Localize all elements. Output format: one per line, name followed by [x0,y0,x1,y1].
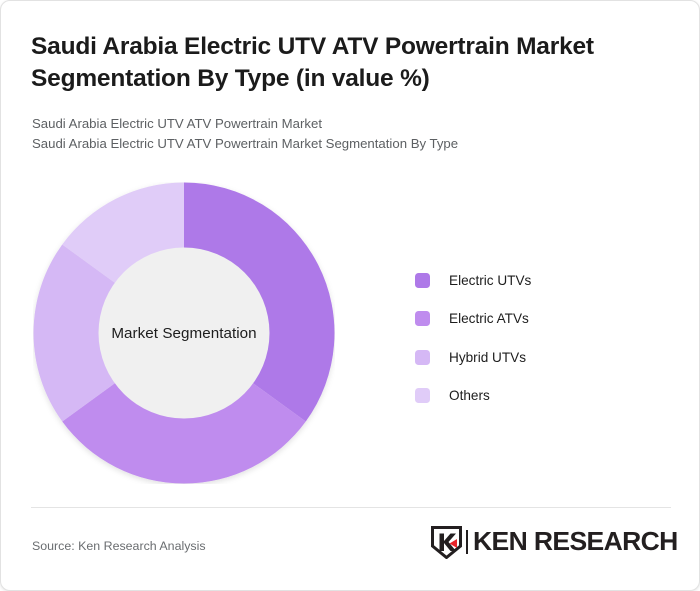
chart-legend: Electric UTVsElectric ATVsHybrid UTVsOth… [415,261,645,415]
legend-label: Electric ATVs [449,311,529,326]
subtitle-segmentation: Saudi Arabia Electric UTV ATV Powertrain… [32,134,642,154]
donut-center-hole [99,248,270,419]
subtitle-group: Saudi Arabia Electric UTV ATV Powertrain… [32,114,642,154]
donut-chart: Market Segmentation [33,182,335,484]
legend-item[interactable]: Electric ATVs [415,300,645,339]
brand-logo: KEN RESEARCH [431,525,670,559]
brand-separator [466,530,468,554]
donut-svg [33,182,335,484]
legend-item[interactable]: Hybrid UTVs [415,338,645,377]
chart-card: Saudi Arabia Electric UTV ATV Powertrain… [0,0,700,591]
ken-research-shield-icon [431,526,462,559]
legend-item[interactable]: Electric UTVs [415,261,645,300]
page-title: Saudi Arabia Electric UTV ATV Powertrain… [31,31,641,96]
legend-swatch-icon [415,273,430,288]
source-note: Source: Ken Research Analysis [32,539,206,553]
legend-item[interactable]: Others [415,377,645,416]
brand-name: KEN RESEARCH [473,528,678,557]
footer-divider [31,507,671,508]
legend-swatch-icon [415,350,430,365]
legend-label: Others [449,388,490,403]
legend-swatch-icon [415,388,430,403]
legend-label: Electric UTVs [449,273,531,288]
subtitle-market: Saudi Arabia Electric UTV ATV Powertrain… [32,114,642,134]
chart-area: Market Segmentation Electric UTVsElectri… [1,161,700,506]
legend-swatch-icon [415,311,430,326]
legend-label: Hybrid UTVs [449,350,526,365]
